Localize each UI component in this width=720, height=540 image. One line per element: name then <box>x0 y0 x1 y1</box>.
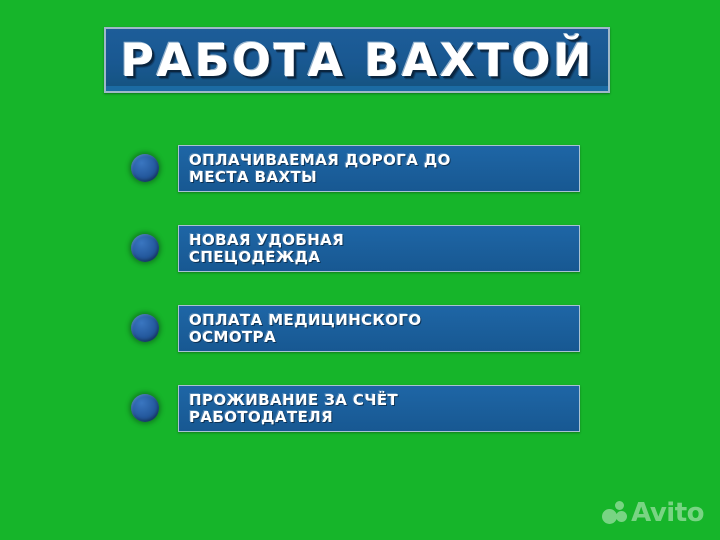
avito-dots-logo-icon <box>602 500 628 526</box>
avito-watermark: Avito <box>602 500 704 526</box>
benefit-box: ПРОЖИВАНИЕ ЗА СЧЁТ РАБОТОДАТЕЛЯ <box>178 385 580 432</box>
avito-wordmark: Avito <box>631 500 704 526</box>
page-title: РАБОТА ВАХТОЙ <box>120 38 594 83</box>
blue-circle-bullet-icon <box>131 154 159 182</box>
blue-circle-bullet-icon <box>131 394 159 422</box>
list-item: НОВАЯ УДОБНАЯ СПЕЦОДЕЖДА <box>0 225 720 272</box>
benefit-box: ОПЛАТА МЕДИЦИНСКОГО ОСМОТРА <box>178 305 580 352</box>
benefit-label: ПРОЖИВАНИЕ ЗА СЧЁТ РАБОТОДАТЕЛЯ <box>189 392 398 426</box>
poster-title-banner: РАБОТА ВАХТОЙ <box>104 27 610 93</box>
benefits-list: ОПЛАЧИВАЕМАЯ ДОРОГА ДО МЕСТА ВАХТЫ НОВАЯ… <box>0 145 720 465</box>
blue-circle-bullet-icon <box>131 314 159 342</box>
list-item: ПРОЖИВАНИЕ ЗА СЧЁТ РАБОТОДАТЕЛЯ <box>0 385 720 432</box>
benefit-label: ОПЛАЧИВАЕМАЯ ДОРОГА ДО МЕСТА ВАХТЫ <box>189 152 451 186</box>
benefit-box: НОВАЯ УДОБНАЯ СПЕЦОДЕЖДА <box>178 225 580 272</box>
benefit-label: ОПЛАТА МЕДИЦИНСКОГО ОСМОТРА <box>189 312 421 346</box>
blue-circle-bullet-icon <box>131 234 159 262</box>
job-advert-poster: РАБОТА ВАХТОЙ ОПЛАЧИВАЕМАЯ ДОРОГА ДО МЕС… <box>0 0 720 540</box>
benefit-label: НОВАЯ УДОБНАЯ СПЕЦОДЕЖДА <box>189 232 344 266</box>
list-item: ОПЛАТА МЕДИЦИНСКОГО ОСМОТРА <box>0 305 720 352</box>
list-item: ОПЛАЧИВАЕМАЯ ДОРОГА ДО МЕСТА ВАХТЫ <box>0 145 720 192</box>
benefit-box: ОПЛАЧИВАЕМАЯ ДОРОГА ДО МЕСТА ВАХТЫ <box>178 145 580 192</box>
